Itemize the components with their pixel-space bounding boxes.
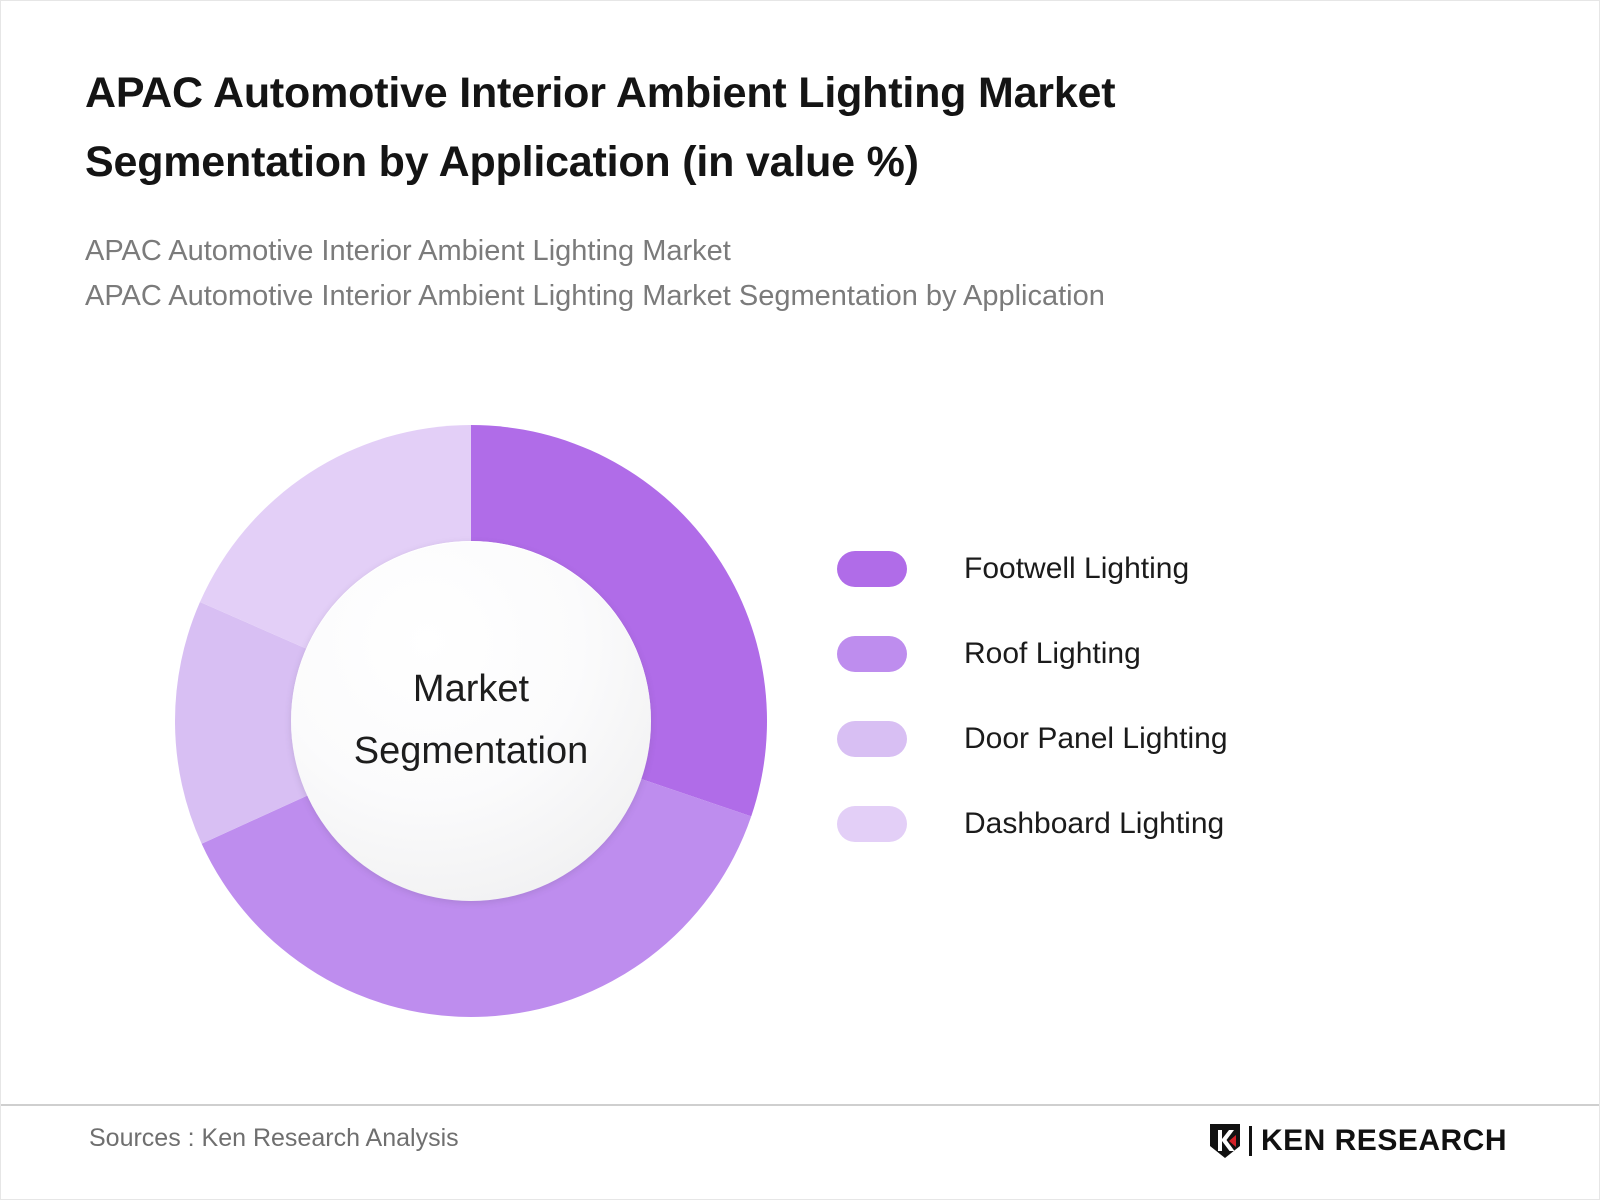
subtitle-block: APAC Automotive Interior Ambient Lightin…	[85, 229, 1505, 319]
brand-wordmark: KEN RESEARCH	[1261, 1126, 1507, 1156]
brand-wordmark-text: KEN RESEARCH	[1261, 1126, 1507, 1156]
center-label-line-2: Segmentation	[354, 721, 589, 783]
donut-chart: Market Segmentation	[173, 423, 769, 1019]
slide-canvas: APAC Automotive Interior Ambient Lightin…	[0, 0, 1600, 1200]
footer-divider	[1, 1104, 1599, 1106]
donut-center-label: Market Segmentation	[354, 659, 589, 782]
legend-label: Dashboard Lighting	[964, 807, 1224, 841]
page-title: APAC Automotive Interior Ambient Lightin…	[85, 59, 1345, 197]
legend-label: Door Panel Lighting	[964, 722, 1228, 756]
shield-logo-icon	[1208, 1122, 1242, 1160]
legend-label: Footwell Lighting	[964, 552, 1189, 586]
ken-research-logo: KEN RESEARCH	[1208, 1120, 1507, 1162]
legend-item[interactable]: Footwell Lighting	[837, 526, 1397, 611]
chart-area: Market Segmentation Footwell LightingRoo…	[1, 396, 1600, 1056]
legend-swatch-icon	[837, 806, 907, 842]
subtitle-line-1: APAC Automotive Interior Ambient Lightin…	[85, 229, 1505, 274]
subtitle-line-2: APAC Automotive Interior Ambient Lightin…	[85, 274, 1505, 319]
legend-item[interactable]: Dashboard Lighting	[837, 781, 1397, 866]
legend-swatch-icon	[837, 636, 907, 672]
center-label-line-1: Market	[354, 659, 589, 721]
donut-center-hole: Market Segmentation	[291, 541, 651, 901]
logo-divider	[1249, 1126, 1252, 1156]
sources-label: Sources : Ken Research Analysis	[89, 1124, 459, 1153]
legend-swatch-icon	[837, 551, 907, 587]
legend-swatch-icon	[837, 721, 907, 757]
legend-item[interactable]: Door Panel Lighting	[837, 696, 1397, 781]
chart-legend: Footwell LightingRoof LightingDoor Panel…	[837, 526, 1397, 866]
legend-label: Roof Lighting	[964, 637, 1141, 671]
header: APAC Automotive Interior Ambient Lightin…	[85, 59, 1505, 318]
legend-item[interactable]: Roof Lighting	[837, 611, 1397, 696]
